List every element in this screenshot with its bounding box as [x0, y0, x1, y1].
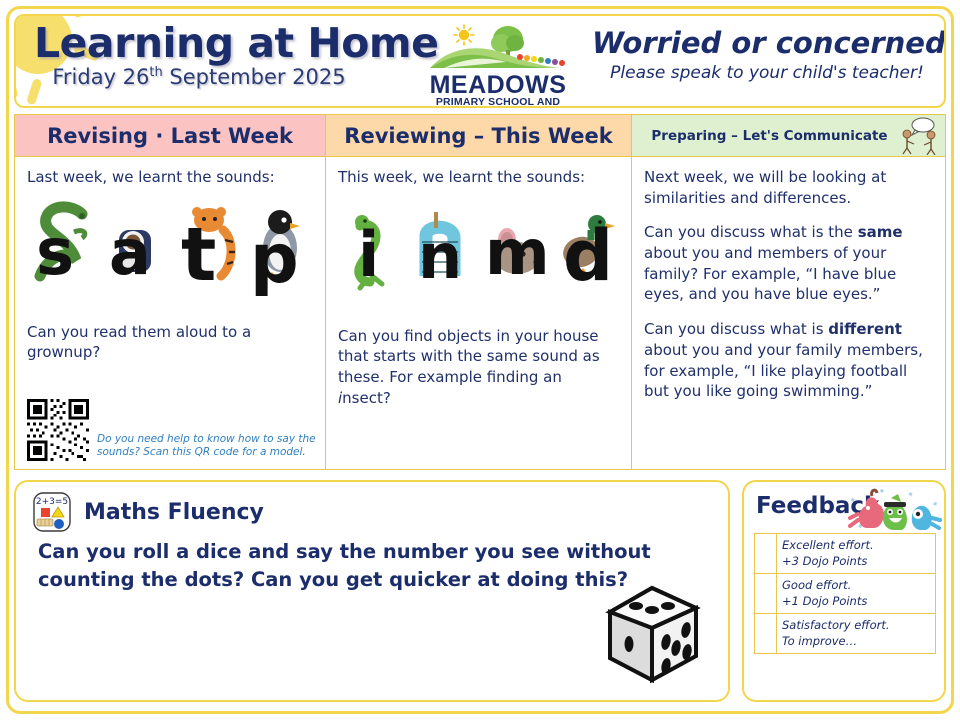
- column-header-label: Revising · Last Week: [47, 124, 293, 148]
- feedback-label-cell: Satisfactory effort. To improve…: [777, 614, 936, 654]
- feedback-table: Excellent effort. +3 Dojo Points Good ef…: [754, 533, 936, 654]
- logo-sun-icon: [454, 25, 474, 45]
- date-ordinal: th: [149, 65, 162, 80]
- svg-text:n: n: [418, 220, 462, 293]
- logo-subtitle: PRIMARY SCHOOL AND NURSERY: [410, 96, 586, 108]
- preparing-para-3: Can you discuss what is different about …: [644, 319, 933, 402]
- feedback-label-cell: Excellent effort. +3 Dojo Points: [777, 534, 936, 574]
- table-row[interactable]: Satisfactory effort. To improve…: [755, 614, 936, 654]
- preparing-para-3-bold: different: [828, 320, 902, 338]
- feedback-panel: Feedback: [742, 480, 946, 702]
- date-suffix: September 2025: [163, 65, 346, 89]
- dojo-monsters-icon: [846, 484, 942, 532]
- reviewing-question-a: Can you find objects in your house that …: [338, 327, 600, 386]
- maths-header: 2+3=5 Maths Fluency: [16, 482, 728, 534]
- feedback-tick-cell[interactable]: [755, 534, 777, 574]
- title-block: Learning at Home Friday 26th September 2…: [34, 20, 454, 89]
- svg-text:a: a: [109, 216, 151, 289]
- maths-icon-sum: 2+3=5: [36, 497, 68, 507]
- phonics-letters-inmd: i n: [338, 192, 619, 296]
- preparing-para-2-a: Can you discuss what is the: [644, 223, 858, 241]
- column-body-reviewing: This week, we learnt the sounds: i: [326, 157, 631, 469]
- preparing-para-3-b: about you and your family members, for e…: [644, 341, 923, 400]
- feedback-tick-cell[interactable]: [755, 614, 777, 654]
- feedback-label-line2: +3 Dojo Points: [782, 554, 930, 570]
- letter-d-duck-icon: d: [553, 196, 615, 296]
- letter-t-tiger-icon: t: [175, 196, 237, 296]
- feedback-label-cell: Good effort. +1 Dojo Points: [777, 574, 936, 614]
- column-reviewing: Reviewing – This Week This week, we lear…: [326, 114, 632, 470]
- letter-i-iguana-icon: i: [342, 196, 404, 296]
- reviewing-question: Can you find objects in your house that …: [338, 326, 619, 409]
- preparing-para-2-b: about you and members of your family? Fo…: [644, 244, 896, 303]
- svg-text:m: m: [485, 216, 545, 289]
- column-body-preparing: Next week, we will be looking at similar…: [632, 157, 945, 469]
- maths-fluency-panel: 2+3=5 Maths Fluency Can you roll a dice …: [14, 480, 730, 702]
- worried-title: Worried or concerned?: [592, 28, 942, 60]
- column-header-label: Reviewing – This Week: [344, 124, 612, 148]
- svg-text:d: d: [563, 215, 613, 296]
- letter-p-penguin-icon: p: [246, 196, 308, 296]
- two-people-talking-icon: [897, 117, 941, 155]
- date-line: Friday 26th September 2025: [34, 65, 364, 89]
- school-logo: MEADOWS PRIMARY SCHOOL AND NURSERY: [410, 24, 586, 106]
- column-header-label: Preparing – Let's Communicate: [651, 128, 887, 144]
- letter-n-net-icon: n: [412, 196, 474, 296]
- logo-graphic: [410, 24, 586, 74]
- header-panel: Learning at Home Friday 26th September 2…: [14, 14, 946, 108]
- worried-block: Worried or concerned? Please speak to yo…: [592, 28, 942, 83]
- qr-code-icon[interactable]: [27, 399, 89, 461]
- column-header-revising: Revising · Last Week: [15, 115, 325, 157]
- dice-icon: [600, 582, 704, 686]
- feedback-label-line1: Good effort.: [782, 578, 930, 594]
- phonics-letters-satp: s a: [27, 192, 313, 296]
- column-header-preparing: Preparing – Let's Communicate: [632, 115, 945, 157]
- revising-intro: Last week, we learnt the sounds:: [27, 167, 313, 188]
- feedback-tick-cell[interactable]: [755, 574, 777, 614]
- svg-text:p: p: [250, 220, 299, 296]
- maths-shapes-icon: 2+3=5: [30, 490, 74, 534]
- svg-text:t: t: [181, 212, 216, 296]
- feedback-label-line1: Excellent effort.: [782, 538, 930, 554]
- learning-at-home-newsletter: Learning at Home Friday 26th September 2…: [0, 0, 960, 720]
- maths-title: Maths Fluency: [84, 500, 264, 525]
- preparing-para-3-a: Can you discuss what is: [644, 320, 828, 338]
- column-revising: Revising · Last Week Last week, we learn…: [14, 114, 326, 470]
- three-column-grid: Revising · Last Week Last week, we learn…: [14, 114, 946, 470]
- feedback-label-line1: Satisfactory effort.: [782, 618, 930, 634]
- preparing-para-2: Can you discuss what is the same about y…: [644, 222, 933, 305]
- preparing-para-2-bold: same: [858, 223, 903, 241]
- letter-m-mouse-icon: m: [483, 196, 545, 296]
- qr-row: Do you need help to know how to say the …: [27, 399, 317, 461]
- column-header-reviewing: Reviewing – This Week: [326, 115, 631, 157]
- column-body-revising: Last week, we learnt the sounds: s: [15, 157, 325, 469]
- svg-text:s: s: [36, 216, 74, 290]
- preparing-para-1: Next week, we will be looking at similar…: [644, 167, 933, 208]
- feedback-label-line2: +1 Dojo Points: [782, 594, 930, 610]
- column-preparing: Preparing – Let's Communicate: [632, 114, 946, 470]
- feedback-header: Feedback: [744, 482, 944, 530]
- revising-question: Can you read them aloud to a grownup?: [27, 322, 313, 363]
- date-prefix: Friday 26: [52, 65, 149, 89]
- bottom-row: 2+3=5 Maths Fluency Can you roll a dice …: [14, 480, 946, 702]
- reviewing-question-b: nsect?: [342, 389, 391, 407]
- qr-note: Do you need help to know how to say the …: [97, 433, 317, 461]
- letter-s-snake-icon: s: [32, 196, 94, 296]
- worried-subtitle: Please speak to your child's teacher!: [592, 63, 942, 83]
- svg-text:i: i: [358, 218, 379, 291]
- reviewing-intro: This week, we learnt the sounds:: [338, 167, 619, 188]
- feedback-label-line2: To improve…: [782, 634, 930, 650]
- page-title: Learning at Home: [34, 20, 454, 67]
- table-row[interactable]: Good effort. +1 Dojo Points: [755, 574, 936, 614]
- letter-a-astronaut-icon: a: [103, 196, 165, 296]
- table-row[interactable]: Excellent effort. +3 Dojo Points: [755, 534, 936, 574]
